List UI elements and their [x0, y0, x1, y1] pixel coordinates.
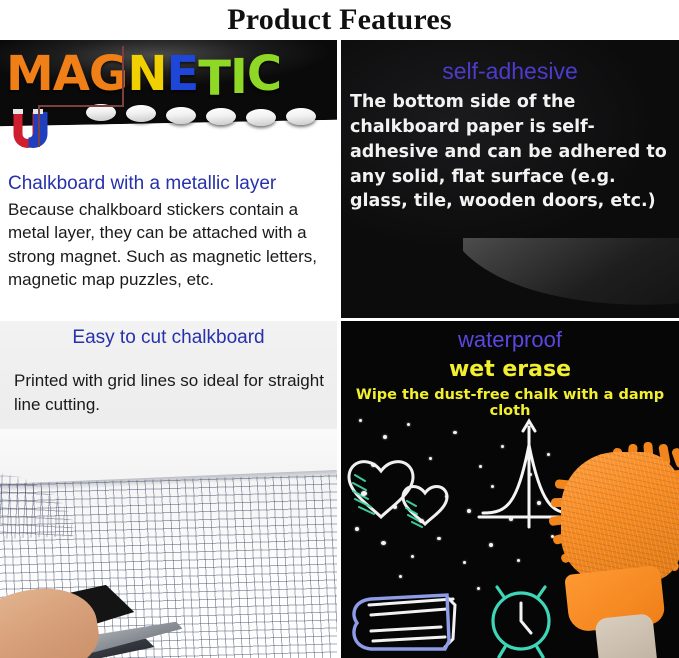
magnetic-letter-a: A	[53, 50, 89, 98]
wet-erase-heading: wet erase	[341, 357, 679, 382]
callout-line-vertical	[122, 46, 124, 106]
microfiber-cleaning-mitt	[545, 444, 679, 658]
magnetic-letter-n: N	[127, 50, 166, 98]
magnet-disc	[286, 108, 316, 125]
feature-panel-easy-to-cut: Easy to cut chalkboard Printed with grid…	[0, 321, 337, 658]
feature-panel-magnetic: M A G N E T I C	[0, 40, 337, 318]
magnet-disc	[246, 109, 276, 126]
feature-panel-waterproof: waterproof wet erase Wipe the dust-free …	[341, 321, 679, 658]
grid-paper-photo	[0, 429, 337, 658]
mitt-arm	[594, 613, 657, 658]
peeling-corner	[463, 238, 679, 318]
page-title: Product Features	[227, 3, 452, 37]
self-adhesive-heading: self-adhesive	[341, 58, 679, 85]
magnetic-letter-t: T	[198, 55, 230, 103]
magnetic-body-wrap: Because chalkboard stickers contain a me…	[8, 198, 334, 292]
mitt-texture	[561, 452, 679, 582]
magnetic-body: Because chalkboard stickers contain a me…	[8, 198, 334, 292]
easy-to-cut-body: Printed with grid lines so ideal for str…	[14, 369, 326, 418]
easy-to-cut-heading: Easy to cut chalkboard	[0, 327, 337, 349]
page-title-bar: Product Features	[0, 0, 679, 40]
magnetic-heading: Chalkboard with a metallic layer	[8, 173, 334, 195]
magnetic-letter-c: C	[247, 50, 281, 98]
waterproof-heading: waterproof	[341, 327, 679, 353]
magnet-disc	[206, 108, 236, 125]
horseshoe-magnet-icon	[8, 102, 54, 160]
callout-line-horizontal	[38, 105, 124, 107]
magnetic-letter-i: I	[230, 53, 247, 101]
clock-hands	[521, 603, 531, 633]
feature-grid: M A G N E T I C	[0, 40, 679, 658]
grid-sheet-curl	[0, 429, 134, 540]
feature-panel-self-adhesive: self-adhesive The bottom side of the cha…	[341, 40, 679, 318]
self-adhesive-body: The bottom side of the chalkboard paper …	[350, 90, 672, 214]
magnet-disc	[166, 107, 196, 124]
magnetic-letter-e: E	[167, 50, 199, 98]
magnetic-heading-wrap: Chalkboard with a metallic layer	[8, 173, 334, 195]
callout-line-drop	[38, 105, 40, 147]
magnet-disc	[86, 104, 116, 121]
hearts-chalk-drawing	[349, 462, 447, 524]
magnet-disc	[126, 105, 156, 122]
magnetic-letter-m: M	[6, 50, 53, 98]
magnetic-word: M A G N E T I C	[6, 46, 336, 102]
peel-curl	[463, 238, 679, 318]
book-chalk-drawing	[369, 597, 455, 647]
product-features-infographic: Product Features M A G N E T I C	[0, 0, 679, 658]
